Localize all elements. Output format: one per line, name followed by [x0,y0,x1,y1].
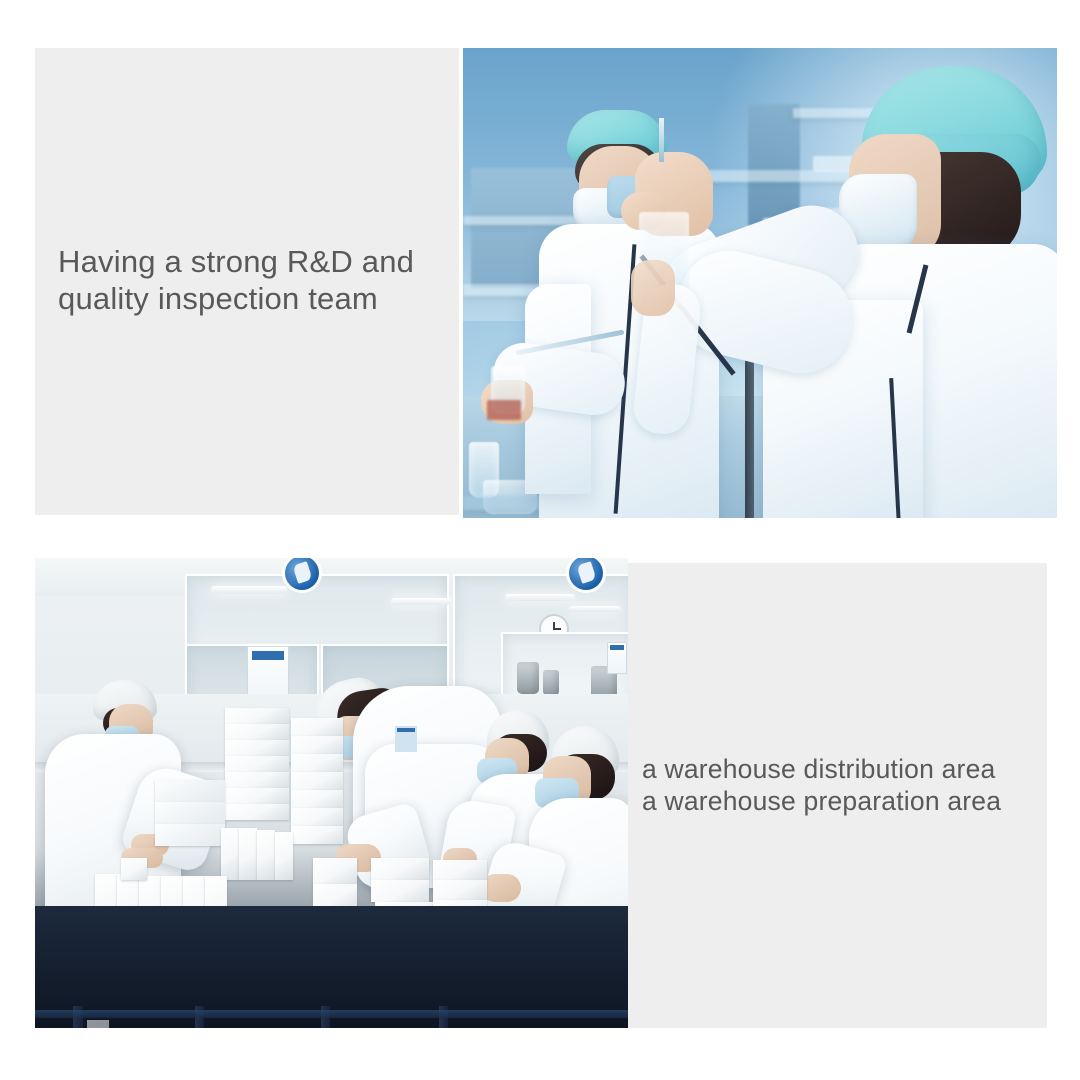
photo-warehouse-packing [35,558,628,1028]
caption-rnd-quality: Having a strong R&D and quality inspecti… [58,243,414,317]
caption-warehouse-areas: a warehouse distribution area a warehous… [642,753,1001,817]
product-detail-page: Having a strong R&D and quality inspecti… [0,0,1080,1080]
photo-lab-quality-inspection [463,48,1057,518]
